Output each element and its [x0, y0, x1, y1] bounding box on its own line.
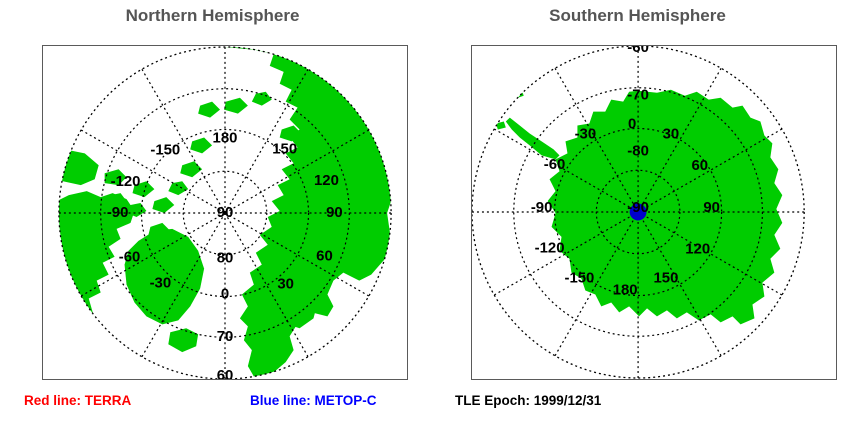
lon-label-neg60: -60: [119, 250, 141, 266]
legend-metopc: Blue line: METOP-C: [250, 393, 377, 408]
lon-label-30: 30: [663, 126, 680, 142]
southern-polar-map: -60 -70 -80 -90 0 30 60 90 120 150 180 -…: [472, 46, 836, 379]
lon-label-0: 0: [221, 286, 229, 302]
northern-hemisphere-plot[interactable]: 180 -150 150 -120 120 -90 90 -60 60 -30 …: [42, 45, 408, 380]
lon-label-120: 120: [314, 173, 339, 189]
lon-label-30: 30: [277, 277, 294, 293]
northern-hemisphere-panel: Northern Hemisphere: [0, 0, 425, 390]
lon-label-neg90: -90: [107, 205, 129, 221]
landmass-islands: [488, 90, 524, 130]
lon-label-0: 0: [628, 116, 636, 132]
southern-hemisphere-plot[interactable]: -60 -70 -80 -90 0 30 60 90 120 150 180 -…: [471, 45, 837, 380]
lat-label-neg80: -80: [627, 143, 649, 159]
lon-label-neg30: -30: [150, 276, 172, 292]
lon-label-neg30: -30: [575, 126, 597, 142]
landmass-iceland: [168, 328, 198, 352]
lat-label-neg90: -90: [627, 200, 649, 216]
southern-hemisphere-panel: Southern Hemisphere: [425, 0, 850, 390]
lat-label-60: 60: [217, 368, 234, 379]
legend-row: Red line: TERRA Blue line: METOP-C TLE E…: [0, 390, 850, 425]
landmass-antarctica: [548, 90, 783, 325]
lon-label-neg150: -150: [564, 271, 594, 287]
lat-label-70: 70: [217, 329, 234, 345]
lat-label-80: 80: [217, 251, 234, 267]
lat-label-neg60: -60: [627, 46, 649, 56]
lon-label-60: 60: [691, 158, 708, 174]
lon-label-90: 90: [326, 205, 343, 221]
lon-label-neg120: -120: [111, 174, 141, 190]
lon-label-120: 120: [685, 242, 710, 258]
landmass-alaska: [44, 149, 99, 187]
lon-label-150: 150: [653, 271, 678, 287]
lon-label-180: 180: [213, 130, 238, 146]
lon-label-150: 150: [272, 141, 297, 157]
lon-label-neg60: -60: [544, 157, 566, 173]
northern-polar-map: 180 -150 150 -120 120 -90 90 -60 60 -30 …: [43, 46, 407, 379]
legend-tle-epoch: TLE Epoch: 1999/12/31: [455, 393, 601, 408]
lon-label-60: 60: [316, 249, 333, 265]
northern-hemisphere-title: Northern Hemisphere: [0, 6, 425, 26]
lon-label-90: 90: [703, 200, 720, 216]
landmass-antarctic-peninsula: [506, 118, 560, 160]
southern-hemisphere-title: Southern Hemisphere: [425, 6, 850, 26]
legend-terra: Red line: TERRA: [24, 393, 131, 408]
lon-label-neg90: -90: [531, 200, 553, 216]
lon-label-180: 180: [613, 282, 638, 298]
lat-label-90: 90: [217, 205, 234, 221]
lon-label-neg120: -120: [535, 241, 565, 257]
lat-label-neg70: -70: [627, 88, 649, 104]
lon-label-neg150: -150: [150, 142, 180, 158]
